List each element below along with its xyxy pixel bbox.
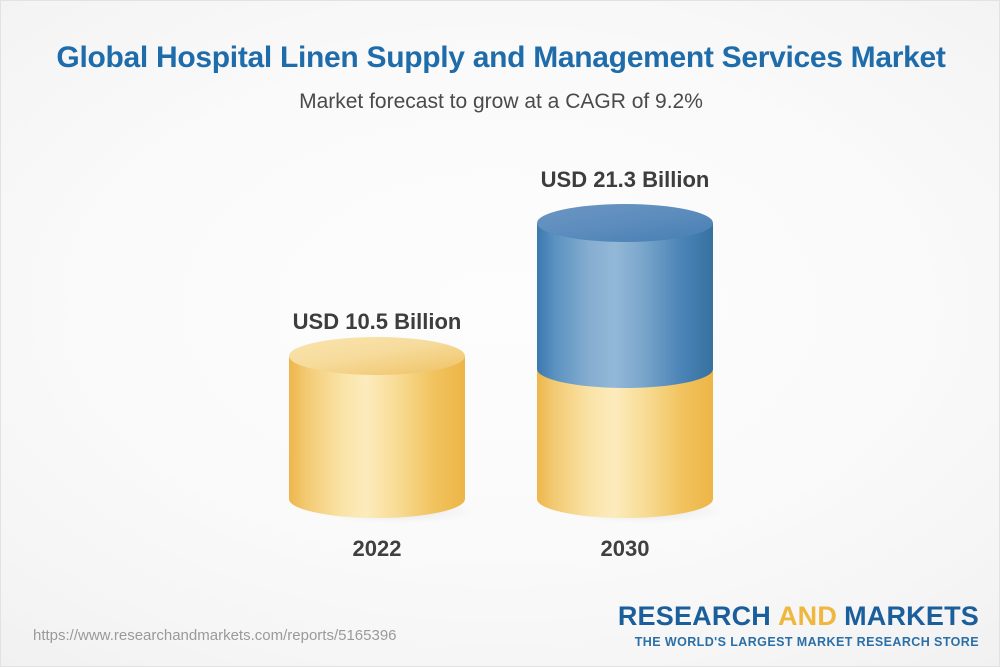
logo-wordmark: RESEARCHANDMARKETS	[618, 603, 979, 630]
cylinder-segment-base-2030	[537, 369, 713, 518]
logo-word-and: AND	[771, 601, 844, 631]
research-and-markets-logo[interactable]: RESEARCHANDMARKETS THE WORLD'S LARGEST M…	[618, 603, 979, 649]
bar-group-2022	[289, 339, 465, 519]
logo-word-markets: MARKETS	[844, 601, 979, 631]
chart-plot-area: USD 10.5 Billion 2022	[1, 1, 1000, 601]
infographic-canvas: Global Hospital Linen Supply and Managem…	[0, 0, 1000, 667]
logo-tagline: THE WORLD'S LARGEST MARKET RESEARCH STOR…	[618, 636, 979, 649]
logo-word-research: RESEARCH	[618, 601, 771, 631]
cylinder-cap-2030	[537, 204, 713, 242]
value-label-2022: USD 10.5 Billion	[267, 309, 487, 335]
cylinder-body-2022	[289, 356, 465, 518]
value-label-2030: USD 21.3 Billion	[515, 167, 735, 193]
source-url-link[interactable]: https://www.researchandmarkets.com/repor…	[33, 627, 397, 644]
category-label-2030: 2030	[535, 536, 715, 562]
cylinder-2022[interactable]	[289, 339, 499, 529]
cylinder-segment-growth-2030	[537, 223, 713, 388]
cylinder-cap-2022	[289, 337, 465, 375]
bar-group-2030	[537, 204, 713, 519]
cylinder-2030[interactable]	[537, 204, 747, 529]
category-label-2022: 2022	[287, 536, 467, 562]
chart-footer: https://www.researchandmarkets.com/repor…	[1, 596, 1000, 666]
